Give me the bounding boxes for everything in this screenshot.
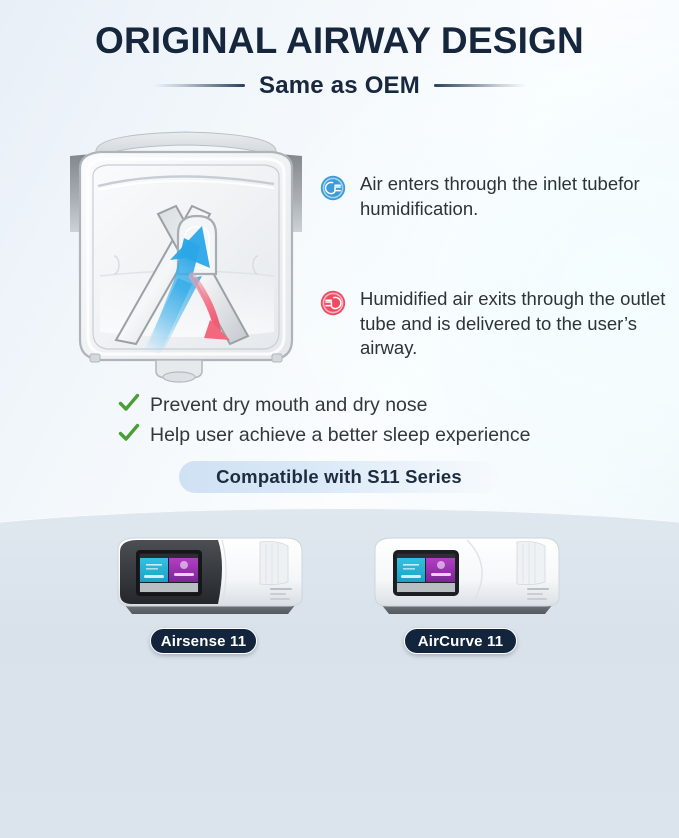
divider-right [434,84,526,87]
page-title: ORIGINAL AIRWAY DESIGN [0,22,679,61]
check-item: Prevent dry mouth and dry nose [118,392,618,418]
benefit-check-list: Prevent dry mouth and dry nose Help user… [118,392,618,453]
bullet-text: Air enters through the inlet tubefor hum… [360,172,672,221]
device-label-text: Airsense 11 [161,633,247,650]
check-label: Prevent dry mouth and dry nose [150,392,428,418]
check-label: Help user achieve a better sleep experie… [150,422,530,448]
check-item: Help user achieve a better sleep experie… [118,422,618,448]
air-inlet-icon [320,175,346,206]
subtitle-row: Same as OEM [0,72,679,100]
compatibility-badge: Compatible with S11 Series [179,461,499,493]
bullet-air-inlet: Air enters through the inlet tubefor hum… [320,172,672,221]
device-aircurve-11 [367,528,567,618]
humidifier-chamber-illustration [52,128,320,383]
air-outlet-icon [320,290,346,321]
feature-bullet-list: Air enters through the inlet tubefor hum… [320,172,672,385]
check-icon [118,423,140,448]
bullet-air-outlet: Humidified air exits through the outlet … [320,287,672,361]
page-subtitle: Same as OEM [259,72,420,100]
device-airsense-11 [110,528,310,618]
header: ORIGINAL AIRWAY DESIGN Same as OEM [0,22,679,100]
bullet-text: Humidified air exits through the outlet … [360,287,672,361]
device-stage [0,508,679,838]
device-label-airsense-11: Airsense 11 [150,628,257,654]
check-icon [118,393,140,418]
compatibility-badge-label: Compatible with S11 Series [216,466,462,488]
divider-left [153,84,245,87]
device-label-aircurve-11: AirCurve 11 [404,628,517,654]
device-label-text: AirCurve 11 [418,633,504,650]
